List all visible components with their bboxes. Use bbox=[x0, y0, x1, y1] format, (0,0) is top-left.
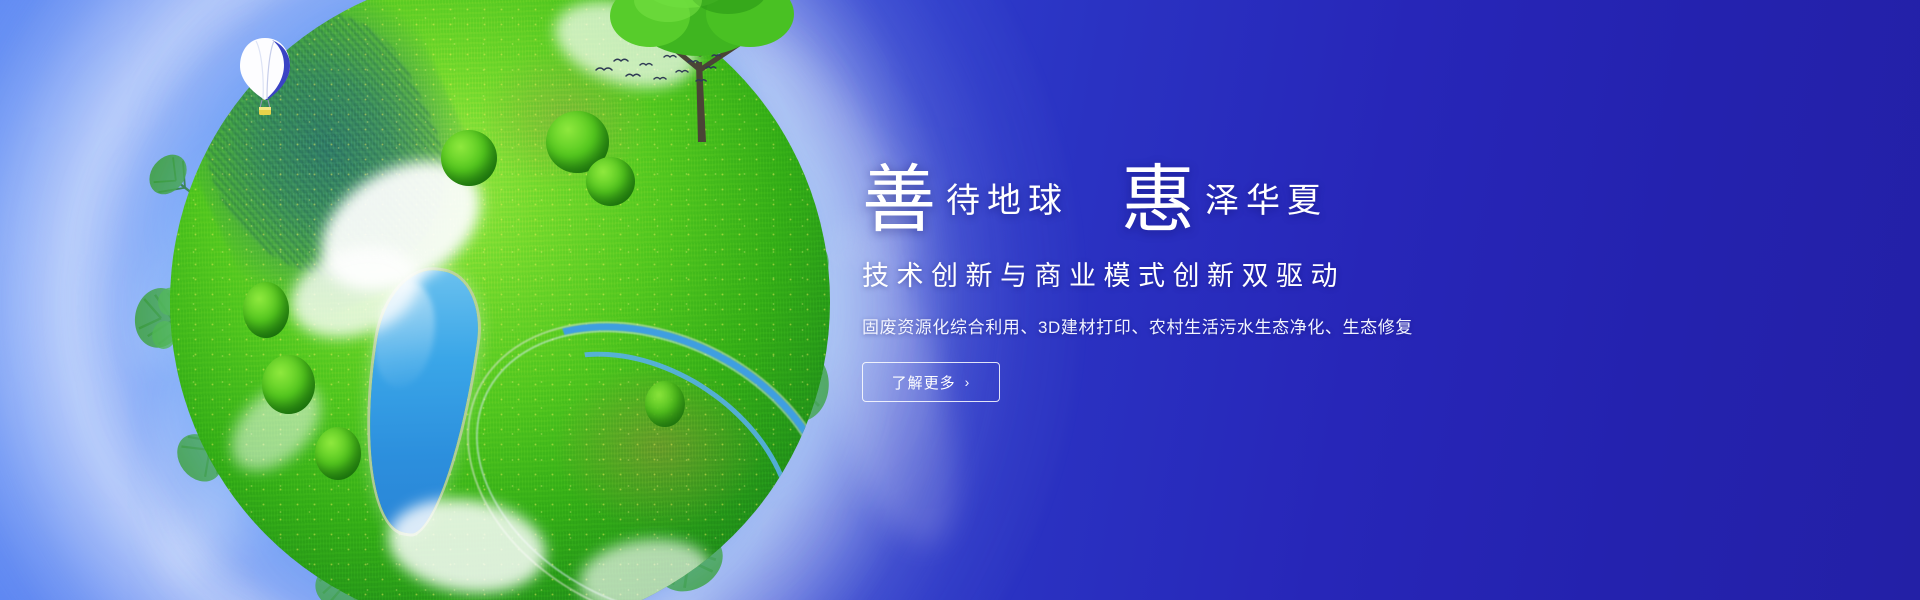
banner-subtitle: 技术创新与商业模式创新双驱动 bbox=[862, 254, 1562, 293]
tree-crown bbox=[645, 381, 685, 427]
learn-more-button[interactable]: 了解更多 › bbox=[862, 362, 1000, 402]
hero-banner: 善 待地球 惠 泽华夏 技术创新与商业模式创新双驱动 固废资源化综合利用、3D建… bbox=[0, 0, 1920, 600]
headline-small-text-2: 泽华夏 bbox=[1195, 173, 1328, 222]
tree-crown bbox=[441, 130, 497, 186]
birds-icon bbox=[592, 48, 722, 94]
chevron-right-icon: › bbox=[965, 374, 971, 390]
banner-content: 善 待地球 惠 泽华夏 技术创新与商业模式创新双驱动 固废资源化综合利用、3D建… bbox=[862, 136, 1562, 402]
headline-part-1: 善 待地球 bbox=[862, 160, 1069, 228]
headline-small-text-1: 待地球 bbox=[936, 173, 1069, 222]
headline-part-2: 惠 泽华夏 bbox=[1121, 160, 1328, 228]
banner-tagline: 固废资源化综合利用、3D建材打印、农村生活污水生态净化、生态修复 bbox=[862, 313, 1562, 338]
headline-big-char-1: 善 bbox=[862, 166, 936, 234]
tree-crown bbox=[243, 282, 289, 338]
headline: 善 待地球 惠 泽华夏 bbox=[862, 136, 1562, 228]
hot-air-balloon-icon bbox=[238, 36, 292, 118]
headline-big-char-2: 惠 bbox=[1121, 166, 1195, 234]
learn-more-label: 了解更多 bbox=[892, 372, 956, 393]
tree-crown bbox=[262, 355, 315, 414]
